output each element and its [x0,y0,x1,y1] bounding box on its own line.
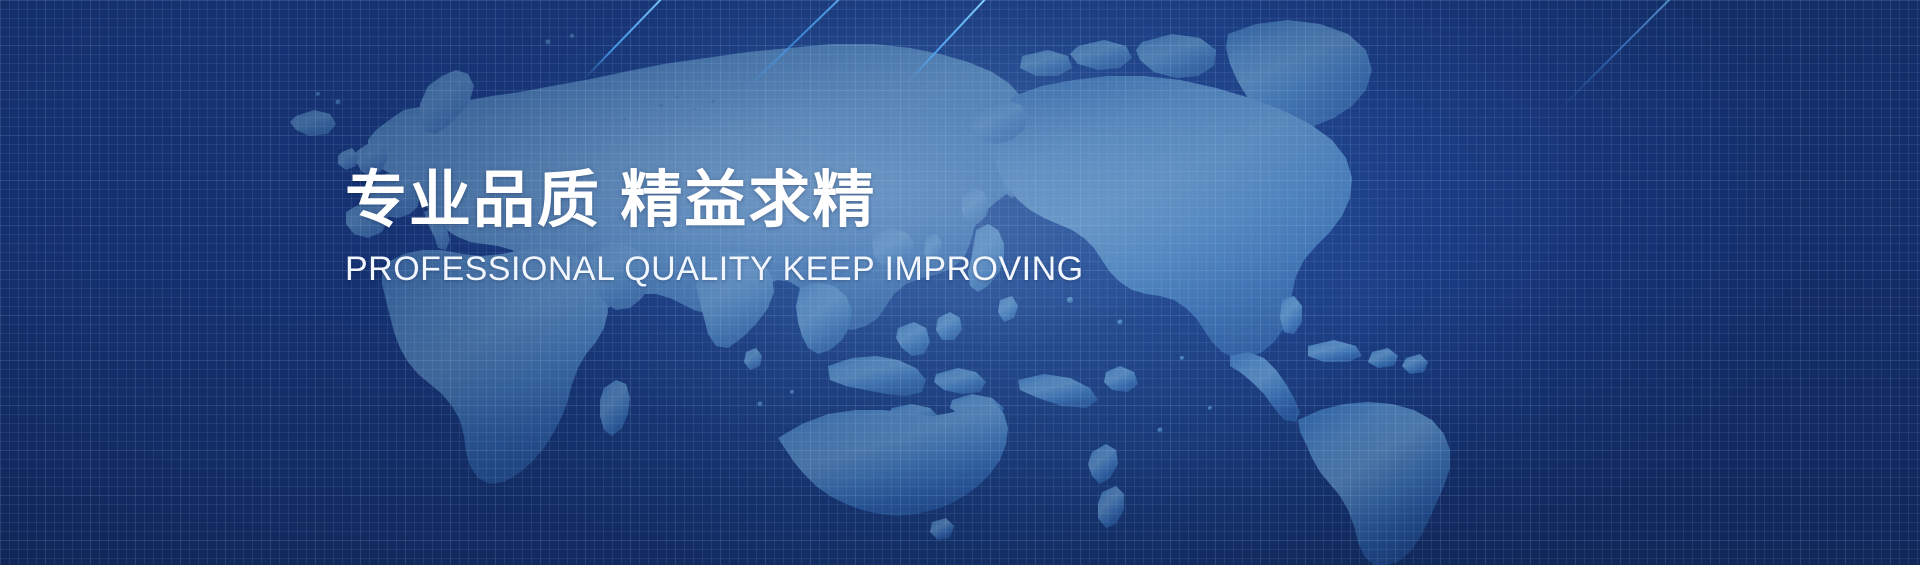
banner-subheadline-english: PROFESSIONAL QUALITY KEEP IMPROVING [345,251,1325,288]
banner-copy: 专业品质 精益求精 PROFESSIONAL QUALITY KEEP IMPR… [345,168,1325,288]
banner-headline-chinese: 专业品质 精益求精 [345,168,1325,233]
hero-banner: 专业品质 精益求精 PROFESSIONAL QUALITY KEEP IMPR… [0,0,1920,565]
